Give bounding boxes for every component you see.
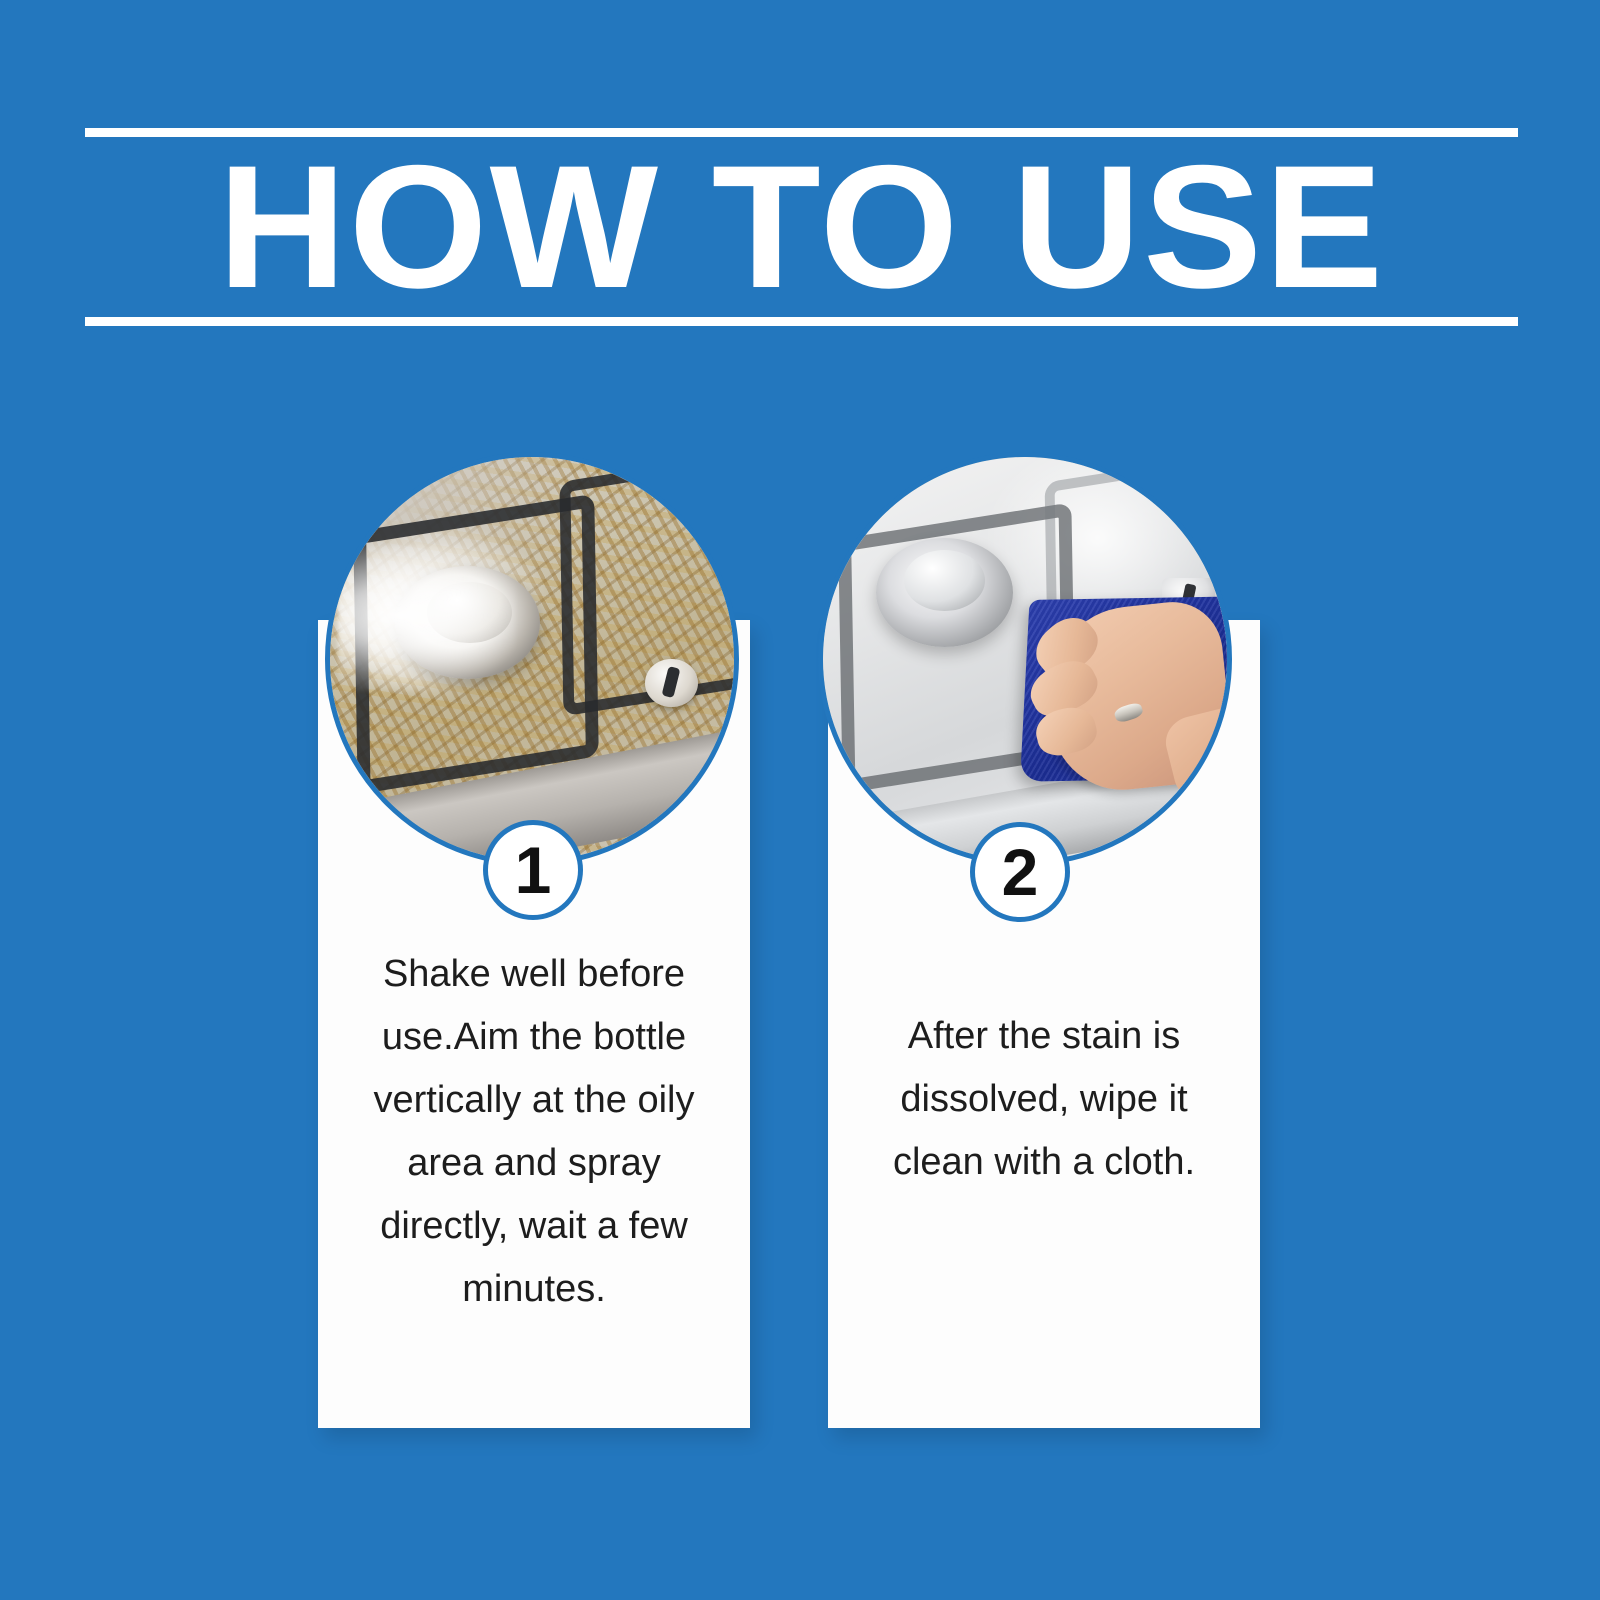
step-1-photo <box>325 452 739 866</box>
step-card-2: 2 After the stain is dissolved, wipe it … <box>828 620 1260 1428</box>
header: HOW TO USE <box>85 128 1518 326</box>
step-card-1: 1 Shake well before use.Aim the bottle v… <box>318 620 750 1428</box>
step-1-description: Shake well before use.Aim the bottle ver… <box>348 943 720 1321</box>
step-2-number-badge: 2 <box>970 822 1070 922</box>
step-2-description: After the stain is dissolved, wipe it cl… <box>858 1005 1230 1194</box>
page-title: HOW TO USE <box>71 137 1533 317</box>
how-to-use-infographic: HOW TO USE 1 Shake well before use.Aim t… <box>0 0 1600 1600</box>
ring-icon <box>1113 702 1145 725</box>
dirty-stovetop-illustration <box>330 457 734 861</box>
stove-knob-icon <box>645 659 698 707</box>
burner-cap-icon <box>904 550 985 611</box>
step-1-number-badge: 1 <box>483 820 583 920</box>
step-1-photo-inner <box>330 457 734 861</box>
spray-burst-icon <box>338 546 516 691</box>
step-2-photo <box>818 452 1232 866</box>
step-2-photo-inner <box>823 457 1227 861</box>
clean-stovetop-illustration <box>823 457 1227 861</box>
